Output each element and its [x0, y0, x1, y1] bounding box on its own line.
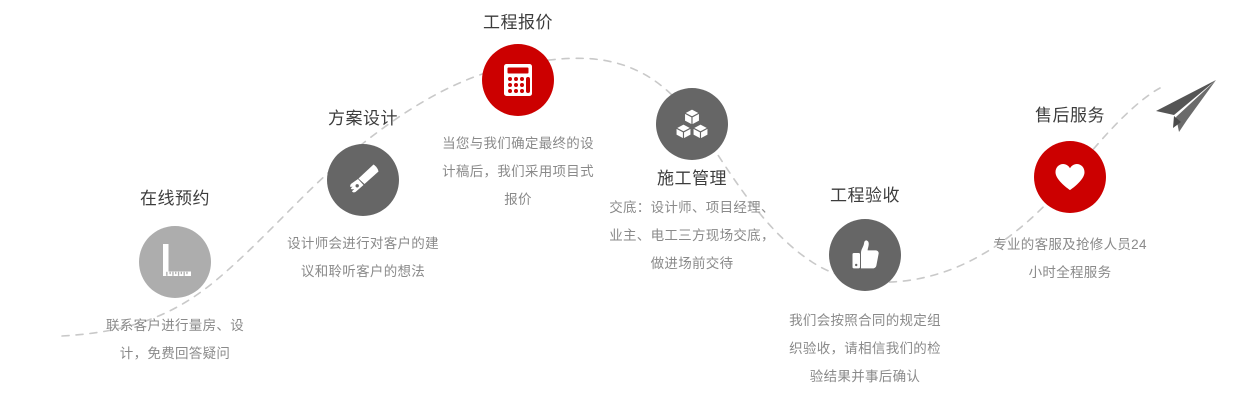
step-3-title: 工程报价: [423, 12, 613, 34]
thumbs-up-icon: [829, 219, 901, 291]
calculator-icon: [482, 44, 554, 116]
step-5-title: 工程验收: [770, 185, 960, 207]
process-step-3[interactable]: 工程报价: [423, 12, 613, 214]
step-2-description: 设计师会进行对客户的建议和聆听客户的想法: [286, 230, 441, 286]
heart-icon: [1034, 141, 1106, 213]
process-step-6[interactable]: 售后服务 专业的客服及抢修人员24小时全程服务: [975, 105, 1165, 287]
step-6-description: 专业的客服及抢修人员24小时全程服务: [993, 231, 1148, 287]
process-step-4[interactable]: 施工管理 交底：设计师、项目经理、业主、电工三方现场交底，做进场前交待: [597, 88, 787, 278]
step-6-icon-wrap: [975, 141, 1165, 213]
step-6-title: 售后服务: [975, 105, 1165, 127]
step-4-title: 施工管理: [597, 168, 787, 190]
step-4-icon-wrap: [597, 88, 787, 160]
step-1-description: 联系客户进行量房、设计，免费回答疑问: [98, 312, 253, 368]
step-5-icon-wrap: [770, 219, 960, 291]
process-step-1[interactable]: 在线预约: [80, 188, 270, 368]
stacked-boxes-icon: [656, 88, 728, 160]
step-1-title: 在线预约: [80, 188, 270, 210]
process-step-5[interactable]: 工程验收 我们会按照合同的规定组织验收，请相信我们的检验结果并事后确认: [770, 185, 960, 391]
step-3-icon-wrap: [423, 44, 613, 116]
triangle-ruler-icon: [139, 226, 211, 298]
step-5-description: 我们会按照合同的规定组织验收，请相信我们的检验结果并事后确认: [788, 307, 943, 391]
step-1-icon-wrap: [80, 226, 270, 298]
step-3-description: 当您与我们确定最终的设计稿后，我们采用项目式报价: [441, 130, 596, 214]
process-flow-diagram: 在线预约: [0, 0, 1245, 402]
fountain-pen-nib-icon: [327, 144, 399, 216]
step-4-description: 交底：设计师、项目经理、业主、电工三方现场交底，做进场前交待: [606, 194, 778, 278]
